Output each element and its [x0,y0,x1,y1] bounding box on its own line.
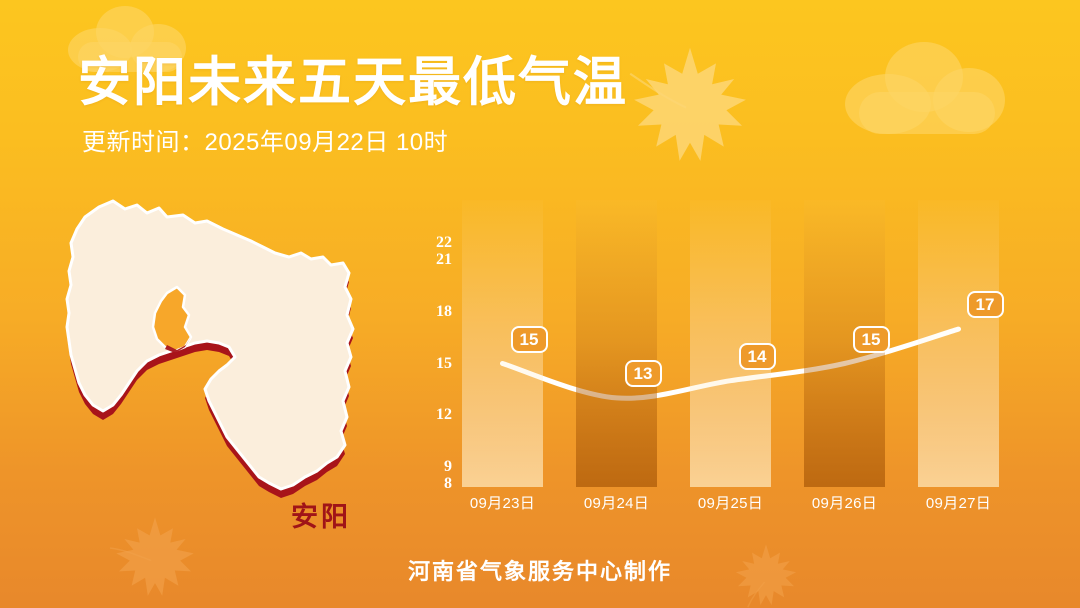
x-axis-date-label: 09月24日 [562,492,672,513]
y-axis-tick-label: 12 [410,406,452,424]
temperature-value-badge: 15 [511,326,548,353]
y-axis-tick-label: 9 [410,458,452,476]
y-axis-tick-label: 21 [410,251,452,269]
y-axis-tick-label: 22 [410,234,452,252]
temperature-value-badge: 14 [739,343,776,370]
anyang-map-shape [55,195,400,525]
map-region-label: 安阳 [291,495,351,534]
y-axis-tick-label: 18 [410,303,452,321]
x-axis-date-label: 09月23日 [448,492,558,513]
maple-leaf-header-icon [620,40,760,170]
weather-infographic: 安阳未来五天最低气温 更新时间：2025年09月22日 10时 安阳 22211… [0,0,1080,608]
x-axis-date-label: 09月27日 [904,492,1014,513]
chart-column [576,200,657,487]
y-axis-tick-label: 15 [410,355,452,373]
y-axis-tick-label: 8 [410,475,452,493]
footer-credit: 河南省气象服务中心制作 [0,554,1080,586]
temperature-value-badge: 17 [967,291,1004,318]
cloud-top-right-icon [845,38,1005,134]
anyang-map: 安阳 [55,195,400,525]
page-title: 安阳未来五天最低气温 [78,52,628,114]
update-time-text: 更新时间：2025年09月22日 10时 [82,128,448,158]
x-axis-date-label: 09月26日 [790,492,900,513]
chart-column [918,200,999,487]
temperature-chart: 222118151298151314151709月23日09月24日09月25日… [410,195,1060,500]
temperature-value-badge: 13 [625,360,662,387]
temperature-value-badge: 15 [853,326,890,353]
x-axis-date-label: 09月25日 [676,492,786,513]
